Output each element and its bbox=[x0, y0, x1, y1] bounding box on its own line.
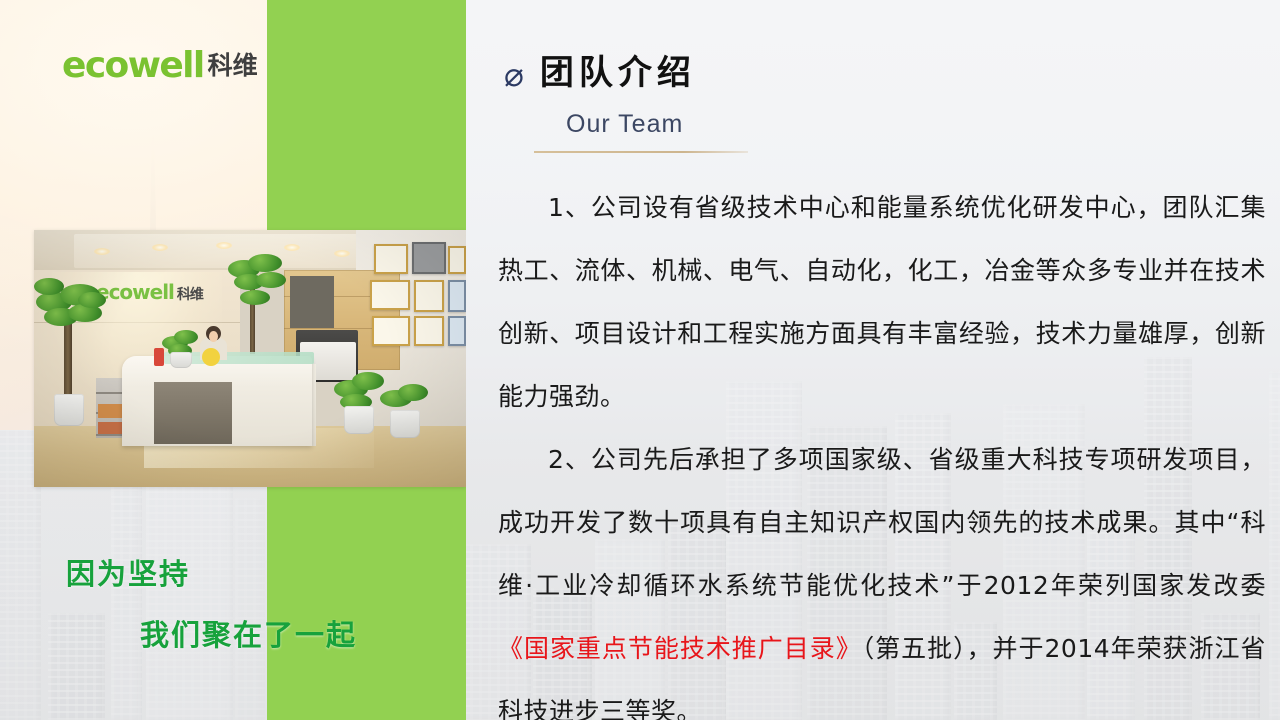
diameter-icon: ⌀ bbox=[504, 58, 524, 91]
right-content-panel: ⌀ 团队介绍 Our Team 1、公司设有省级技术中心和能量系统优化研发中心，… bbox=[466, 0, 1280, 720]
slogan-line-1: 因为坚持 bbox=[66, 551, 190, 593]
section-title-row: ⌀ 团队介绍 bbox=[504, 56, 696, 90]
brand-logo-cn: 科维 bbox=[208, 51, 258, 80]
paragraph-2: 2、公司先后承担了多项国家级、省级重大科技专项研发项目，成功开发了数十项具有自主… bbox=[466, 428, 1280, 720]
title-divider bbox=[534, 151, 748, 153]
page-subtitle: Our Team bbox=[566, 110, 683, 139]
slogan-line-2: 我们聚在了一起 bbox=[140, 612, 357, 654]
office-reception-photo: ecowell科维 bbox=[34, 230, 466, 487]
slide-root: ecowell科维 bbox=[0, 0, 1280, 720]
paragraph-2-highlight: 《国家重点节能技术推广目录》 bbox=[498, 634, 862, 663]
page-title: 团队介绍 bbox=[540, 56, 696, 90]
photo-vignette bbox=[34, 230, 466, 487]
brand-logo-text: ecowell bbox=[62, 45, 204, 86]
body-content: 1、公司设有省级技术中心和能量系统优化研发中心，团队汇集热工、流体、机械、电气、… bbox=[466, 176, 1280, 720]
brand-logo: ecowell科维 bbox=[62, 48, 258, 84]
paragraph-1: 1、公司设有省级技术中心和能量系统优化研发中心，团队汇集热工、流体、机械、电气、… bbox=[466, 176, 1280, 428]
paragraph-2-text-a: 2、公司先后承担了多项国家级、省级重大科技专项研发项目，成功开发了数十项具有自主… bbox=[498, 445, 1266, 600]
left-panel: ecowell科维 bbox=[0, 0, 466, 720]
